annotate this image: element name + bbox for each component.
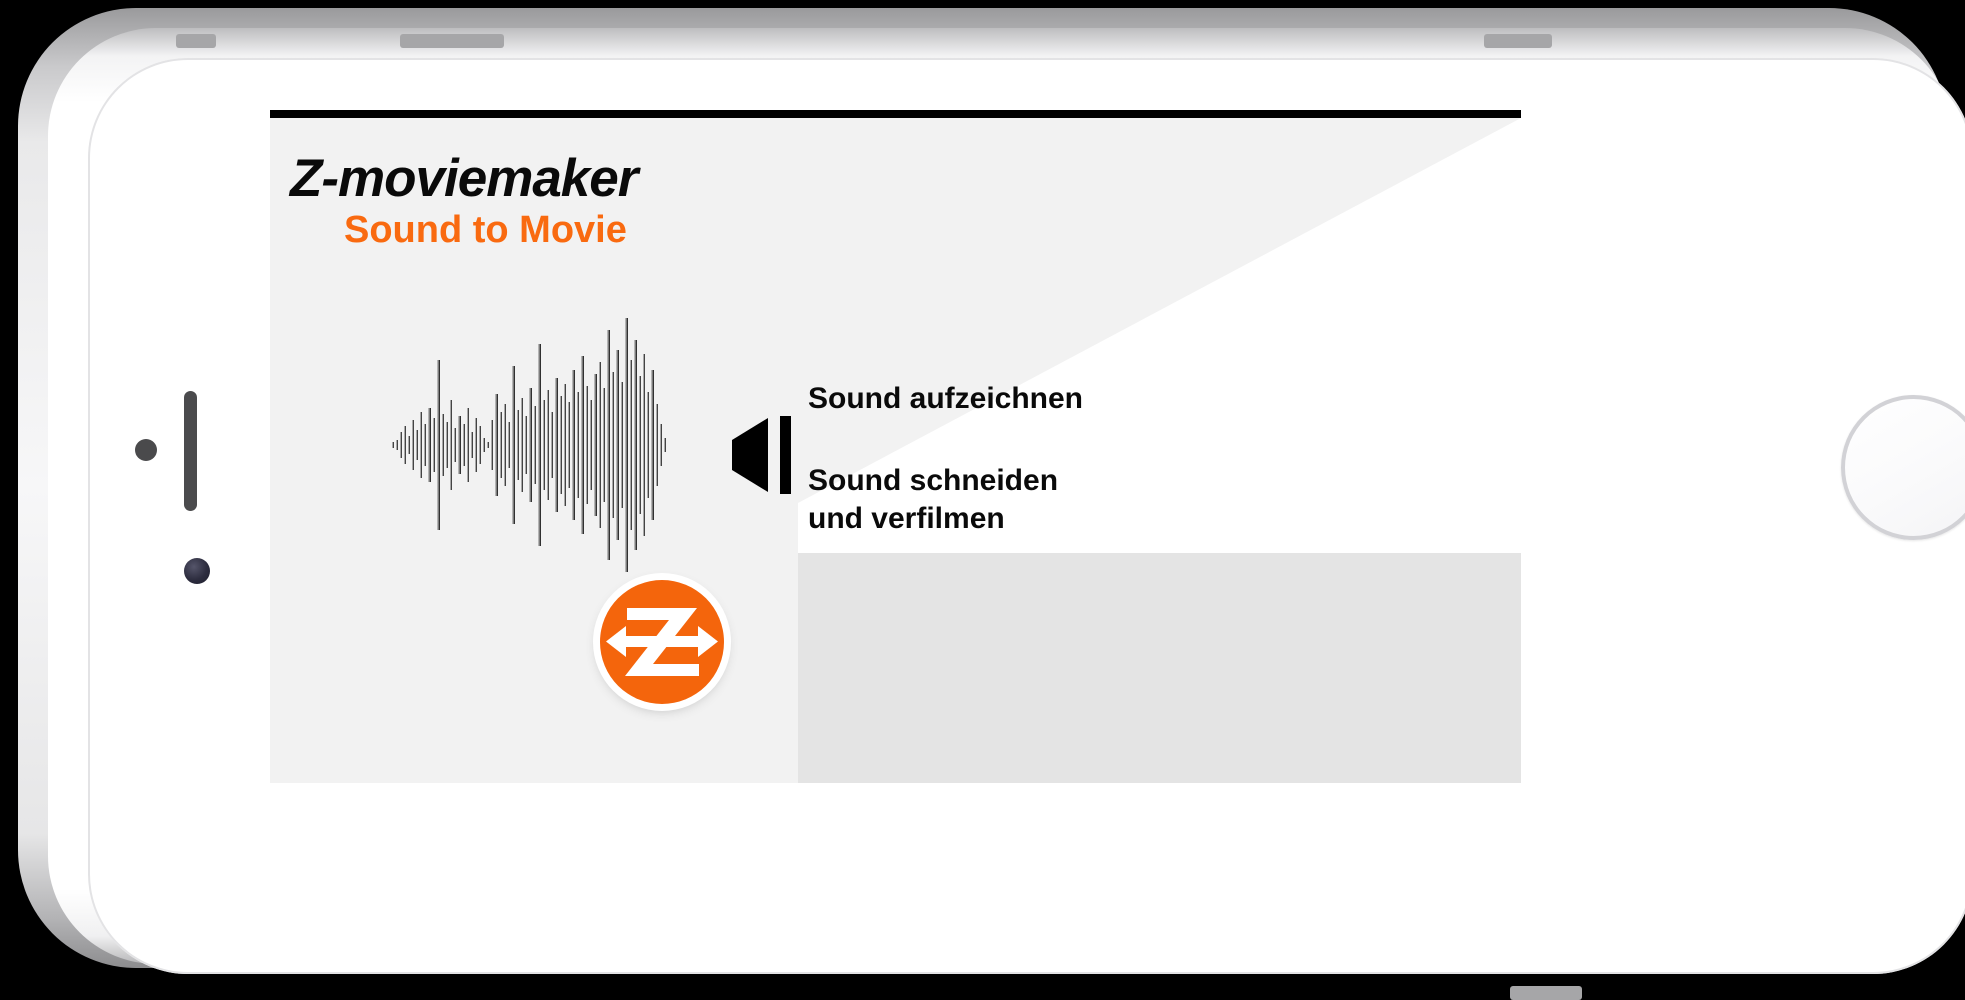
projector-cone-icon: [728, 410, 808, 500]
feature-label-edit: Sound schneiden und verfilmen: [808, 462, 1058, 539]
earpiece-speaker-icon: [184, 391, 197, 511]
page-subtitle: Sound to Movie: [344, 209, 627, 252]
feature-label-edit-line1: Sound schneiden: [808, 462, 1058, 500]
page-title: Z-moviemaker: [290, 148, 637, 209]
volume-button[interactable]: [176, 34, 216, 48]
audio-waveform-icon: [378, 300, 668, 590]
ambient-sensor-icon: [184, 558, 210, 584]
power-button[interactable]: [400, 34, 504, 48]
waveform-logo-group: [378, 300, 668, 590]
z-logo-arrow: [600, 580, 724, 704]
side-button[interactable]: [1510, 986, 1582, 1000]
slide-top-rule: [270, 110, 1521, 118]
feature-label-edit-line2: und verfilmen: [808, 500, 1058, 538]
front-camera-icon: [135, 439, 157, 461]
feature-label-record: Sound aufzeichnen: [808, 382, 1083, 416]
z-logo-glyph: [600, 580, 724, 704]
phone-body: Z-moviemaker Sound to Movie: [48, 28, 1953, 964]
mute-switch[interactable]: [1484, 34, 1552, 48]
phone-outer-frame: Z-moviemaker Sound to Movie: [18, 8, 1947, 968]
presentation-slide: Z-moviemaker Sound to Movie: [270, 110, 1521, 783]
phone-screen-face: Z-moviemaker Sound to Movie: [88, 58, 1965, 974]
home-button-icon[interactable]: [1841, 395, 1965, 540]
